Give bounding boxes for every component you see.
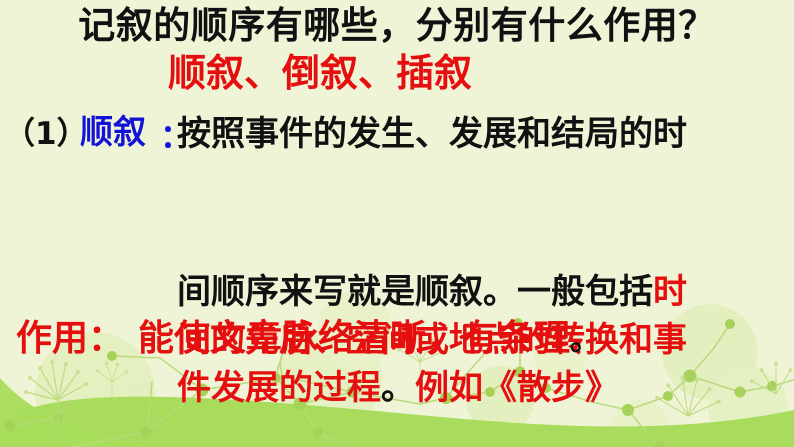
effect-label: 作用：: [16, 318, 124, 359]
subtitle-narrative-types: 顺叙、倒叙、插叙: [0, 50, 640, 96]
definition-line-2-black: 间顺序来写就是顺叙。一般包括: [177, 272, 653, 312]
effect-line: 作用：能使文章脉络清晰，有条理。: [16, 315, 600, 365]
slide-root: 记叙的顺序有哪些，分别有什么作用？ 顺叙、倒叙、插叙 （1） 顺叙 ： 按照事件…: [0, 0, 794, 447]
effect-period: 。: [570, 323, 600, 358]
definition-number: （1）: [4, 112, 88, 156]
definition-line-4-red-a: 件发展的过程: [177, 368, 381, 408]
definition-line-2: 间顺序来写就是顺叙。一般包括时: [177, 268, 687, 316]
slide-content: 记叙的顺序有哪些，分别有什么作用？ 顺叙、倒叙、插叙 （1） 顺叙 ： 按照事件…: [0, 0, 794, 447]
definition-term: 顺叙: [80, 110, 146, 154]
page-title: 记叙的顺序有哪些，分别有什么作用？: [0, 4, 794, 48]
effect-text: 能使文章脉络清晰，有条理: [138, 318, 570, 359]
definition-line-4-red-b: 例如《散步》: [415, 368, 619, 408]
definition-line-4: 件发展的过程。例如《散步》: [177, 364, 619, 412]
definition-block: （1） 顺叙 ： 按照事件的发生、发展和结局的时 间顺序来写就是顺叙。一般包括时…: [0, 110, 794, 158]
definition-line-4-period: 。: [381, 368, 415, 408]
definition-line-1: 按照事件的发生、发展和结局的时: [177, 112, 687, 156]
definition-line-2-red: 时: [653, 272, 687, 312]
definition-first-row: （1） 顺叙 ： 按照事件的发生、发展和结局的时: [0, 110, 794, 158]
